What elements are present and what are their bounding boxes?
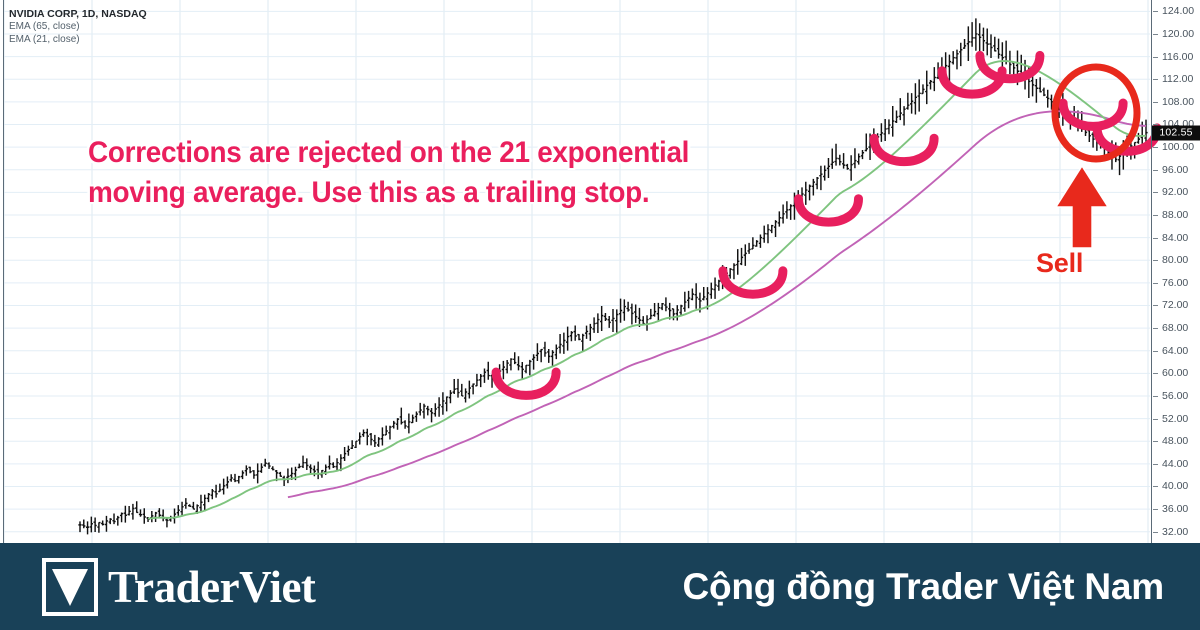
price-tick-label: 100.00 (1162, 141, 1194, 153)
price-tick-label: 88.00 (1162, 209, 1188, 221)
price-tick-dash (1153, 57, 1158, 58)
ema-bounce-arc-marker (799, 199, 859, 222)
screenshot-root: NVIDIA CORP, 1D, NASDAQ EMA (65, close) … (0, 0, 1200, 630)
price-tick-dash (1153, 192, 1158, 193)
price-chart-panel[interactable]: NVIDIA CORP, 1D, NASDAQ EMA (65, close) … (0, 0, 1200, 543)
price-tick-dash (1153, 147, 1158, 148)
price-tick-label: 84.00 (1162, 232, 1188, 244)
ema-bounce-arc-marker (874, 138, 934, 161)
price-tick-dash (1153, 283, 1158, 284)
price-tick-dash (1153, 396, 1158, 397)
price-tick-label: 44.00 (1162, 458, 1188, 470)
chart-left-border (3, 0, 4, 543)
price-tick-dash (1153, 419, 1158, 420)
price-tick-dash (1153, 373, 1158, 374)
chart-annotation-markers (0, 0, 1200, 543)
price-tick-dash (1153, 260, 1158, 261)
price-tick-label: 112.00 (1162, 73, 1193, 85)
price-tick-label: 96.00 (1162, 164, 1188, 176)
price-scale-axis[interactable]: 124.00120.00116.00112.00108.00104.00100.… (1152, 0, 1200, 543)
price-tick-label: 48.00 (1162, 435, 1188, 447)
price-tick-dash (1153, 351, 1158, 352)
price-tick-label: 76.00 (1162, 277, 1188, 289)
price-tick-label: 56.00 (1162, 390, 1188, 402)
price-tick-label: 124.00 (1162, 5, 1194, 17)
price-tick-label: 72.00 (1162, 299, 1188, 311)
price-tick-label: 92.00 (1162, 186, 1188, 198)
sell-arrow-icon (1056, 166, 1108, 248)
banner-tagline: Cộng đồng Trader Việt Nam (682, 566, 1164, 608)
callout-line-1: Corrections are rejected on the 21 expon… (88, 136, 689, 169)
price-tick-label: 60.00 (1162, 367, 1188, 379)
brand-name: TraderViet (108, 561, 315, 613)
chart-legend: NVIDIA CORP, 1D, NASDAQ EMA (65, close) … (9, 8, 147, 47)
price-tick-dash (1153, 79, 1158, 80)
price-tick-label: 52.00 (1162, 413, 1188, 425)
callout-annotation: Corrections are rejected on the 21 expon… (88, 133, 739, 212)
ema-fast-label: EMA (21, close) (9, 34, 147, 47)
ema-bounce-arc-marker (496, 372, 556, 395)
callout-line-2: moving average. Use this as a trailing s… (88, 173, 739, 213)
branding-banner: TraderViet Cộng đồng Trader Việt Nam (0, 543, 1200, 630)
price-tick-dash (1153, 441, 1158, 442)
price-tick-dash (1153, 238, 1158, 239)
price-tick-label: 32.00 (1162, 526, 1188, 538)
price-tick-label: 36.00 (1162, 503, 1188, 515)
price-tick-label: 68.00 (1162, 322, 1188, 334)
price-tick-dash (1153, 532, 1158, 533)
price-tick-label: 40.00 (1162, 480, 1188, 492)
ema-bounce-arc-marker (723, 271, 783, 294)
price-tick-label: 64.00 (1162, 345, 1188, 357)
price-tick-label: 80.00 (1162, 254, 1188, 266)
sell-label: Sell (1036, 248, 1083, 279)
ema-bounce-arc-marker (1063, 103, 1123, 126)
price-tick-label: 108.00 (1162, 96, 1194, 108)
price-tick-dash (1153, 305, 1158, 306)
brand-logo[interactable]: TraderViet (42, 558, 315, 616)
price-tick-label: 120.00 (1162, 28, 1194, 40)
price-tick-dash (1153, 102, 1158, 103)
price-tick-dash (1153, 464, 1158, 465)
price-tick-dash (1153, 11, 1158, 12)
ema-bounce-arc-marker (980, 55, 1040, 78)
price-tick-dash (1153, 486, 1158, 487)
price-tick-label: 116.00 (1162, 51, 1193, 63)
symbol-label: NVIDIA CORP, 1D, NASDAQ (9, 8, 147, 21)
ema-slow-label: EMA (65, close) (9, 21, 147, 34)
price-tick-dash (1153, 170, 1158, 171)
last-price-badge: 102.55 (1152, 125, 1200, 140)
price-tick-dash (1153, 328, 1158, 329)
price-tick-dash (1153, 215, 1158, 216)
price-tick-dash (1153, 509, 1158, 510)
traderviet-v-icon (42, 558, 98, 616)
price-tick-dash (1153, 34, 1158, 35)
